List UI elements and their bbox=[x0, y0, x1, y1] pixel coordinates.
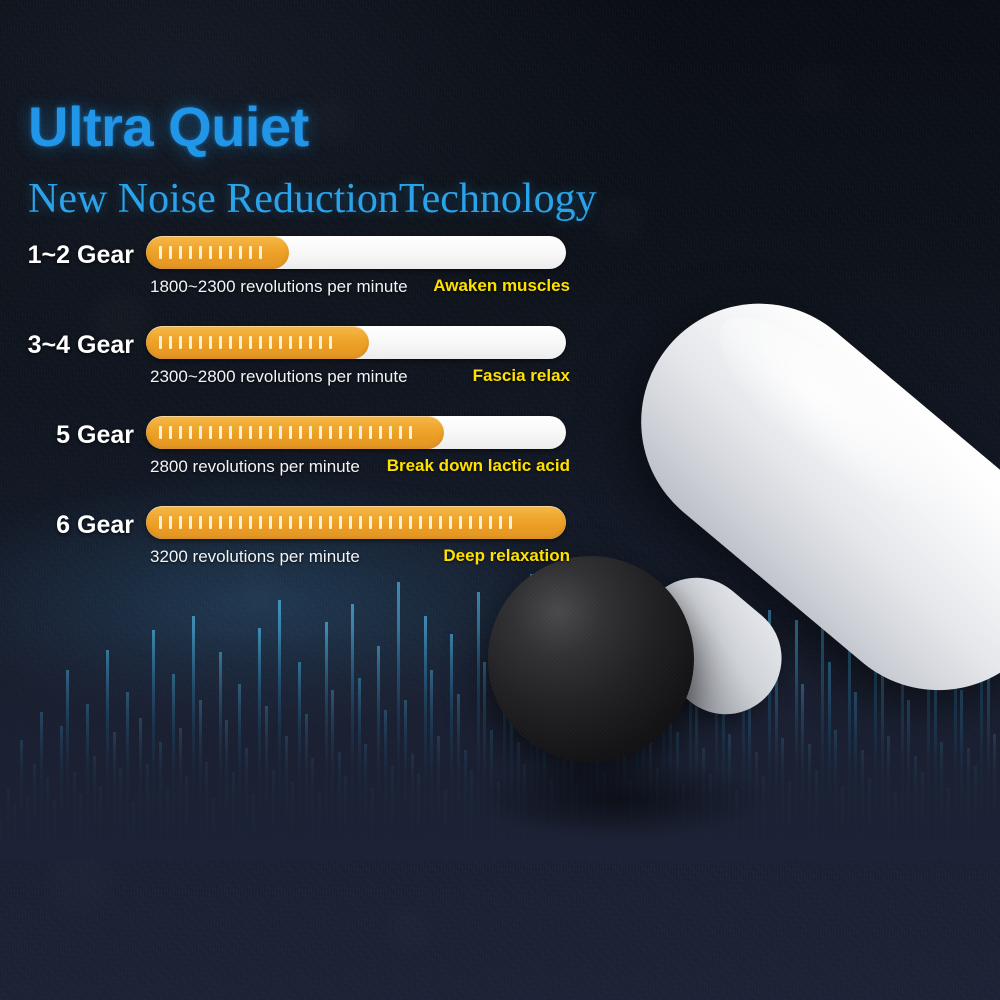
gear-progress-track[interactable] bbox=[146, 236, 566, 269]
gear-progress-track[interactable] bbox=[146, 326, 566, 359]
gear-benefit-label: Deep relaxation bbox=[443, 546, 570, 566]
gear-tick-icon bbox=[499, 516, 502, 529]
gear-tick-icon bbox=[429, 516, 432, 529]
gear-tick-icon bbox=[389, 516, 392, 529]
gear-tick-icon bbox=[309, 516, 312, 529]
gear-tick-icon bbox=[509, 516, 512, 529]
gear-tick-icon bbox=[209, 426, 212, 439]
gear-tick-icon bbox=[309, 336, 312, 349]
gear-tick-icon bbox=[389, 426, 392, 439]
gear-tick-group bbox=[146, 336, 332, 349]
page-title: Ultra Quiet bbox=[28, 94, 309, 159]
gear-tick-icon bbox=[229, 426, 232, 439]
gear-tick-icon bbox=[379, 516, 382, 529]
gear-tick-icon bbox=[419, 516, 422, 529]
gear-tick-icon bbox=[439, 516, 442, 529]
gear-label: 3~4 Gear bbox=[0, 331, 134, 360]
gear-tick-icon bbox=[279, 516, 282, 529]
gear-tick-icon bbox=[189, 246, 192, 259]
gear-tick-icon bbox=[299, 426, 302, 439]
gear-tick-group bbox=[146, 246, 262, 259]
gear-tick-icon bbox=[269, 516, 272, 529]
gear-rpm-caption: 2800 revolutions per minute bbox=[150, 457, 360, 477]
gear-tick-icon bbox=[179, 426, 182, 439]
gear-tick-icon bbox=[239, 336, 242, 349]
gear-tick-icon bbox=[359, 426, 362, 439]
gear-tick-icon bbox=[199, 516, 202, 529]
gear-progress-track[interactable] bbox=[146, 416, 566, 449]
gear-progress-fill bbox=[146, 326, 369, 359]
gear-rpm-caption: 1800~2300 revolutions per minute bbox=[150, 277, 408, 297]
gear-tick-icon bbox=[249, 336, 252, 349]
gear-tick-icon bbox=[349, 426, 352, 439]
gear-tick-icon bbox=[369, 516, 372, 529]
gear-tick-icon bbox=[489, 516, 492, 529]
gear-tick-icon bbox=[399, 426, 402, 439]
gear-tick-icon bbox=[159, 426, 162, 439]
gear-tick-icon bbox=[159, 516, 162, 529]
gear-tick-icon bbox=[219, 426, 222, 439]
gear-tick-icon bbox=[259, 426, 262, 439]
gear-tick-icon bbox=[329, 516, 332, 529]
gear-row: 3~4 Gear2300~2800 revolutions per minute… bbox=[0, 326, 600, 416]
gear-tick-icon bbox=[289, 426, 292, 439]
gear-rpm-caption: 2300~2800 revolutions per minute bbox=[150, 367, 408, 387]
gear-row: 6 Gear3200 revolutions per minuteDeep re… bbox=[0, 506, 600, 596]
gear-tick-icon bbox=[289, 336, 292, 349]
gear-rpm-caption: 3200 revolutions per minute bbox=[150, 547, 360, 567]
gear-tick-icon bbox=[229, 336, 232, 349]
product-infographic: Ultra Quiet New Noise ReductionTechnolog… bbox=[0, 0, 1000, 1000]
gear-tick-icon bbox=[329, 336, 332, 349]
gear-tick-icon bbox=[339, 426, 342, 439]
gear-tick-icon bbox=[409, 426, 412, 439]
gear-tick-icon bbox=[239, 516, 242, 529]
gear-tick-icon bbox=[469, 516, 472, 529]
gear-progress-track[interactable] bbox=[146, 506, 566, 539]
page-subtitle: New Noise ReductionTechnology bbox=[28, 175, 597, 223]
gear-tick-icon bbox=[239, 426, 242, 439]
gear-tick-icon bbox=[159, 336, 162, 349]
gear-tick-icon bbox=[279, 426, 282, 439]
gear-tick-icon bbox=[249, 516, 252, 529]
gear-row: 1~2 Gear1800~2300 revolutions per minute… bbox=[0, 236, 600, 326]
gear-label: 1~2 Gear bbox=[0, 241, 134, 270]
gear-tick-icon bbox=[239, 246, 242, 259]
gear-tick-icon bbox=[169, 426, 172, 439]
gear-tick-icon bbox=[339, 516, 342, 529]
gear-tick-icon bbox=[159, 246, 162, 259]
gear-tick-icon bbox=[219, 246, 222, 259]
gear-tick-icon bbox=[249, 426, 252, 439]
gear-tick-icon bbox=[459, 516, 462, 529]
gear-tick-icon bbox=[309, 426, 312, 439]
gear-tick-icon bbox=[179, 516, 182, 529]
gear-tick-icon bbox=[479, 516, 482, 529]
gear-tick-icon bbox=[399, 516, 402, 529]
gear-tick-icon bbox=[449, 516, 452, 529]
gear-tick-icon bbox=[369, 426, 372, 439]
gear-tick-icon bbox=[189, 516, 192, 529]
waveform-fade bbox=[0, 630, 1000, 860]
gear-progress-fill bbox=[146, 236, 289, 269]
gear-tick-icon bbox=[219, 336, 222, 349]
gear-label: 6 Gear bbox=[0, 511, 134, 540]
gear-row: 5 Gear2800 revolutions per minuteBreak d… bbox=[0, 416, 600, 506]
gear-progress-fill bbox=[146, 506, 566, 539]
gear-tick-icon bbox=[259, 516, 262, 529]
gear-benefit-label: Break down lactic acid bbox=[387, 456, 570, 476]
gear-tick-group bbox=[146, 426, 412, 439]
gear-tick-icon bbox=[299, 516, 302, 529]
gear-tick-icon bbox=[199, 426, 202, 439]
gear-tick-icon bbox=[269, 426, 272, 439]
gear-tick-icon bbox=[299, 336, 302, 349]
gear-tick-icon bbox=[259, 336, 262, 349]
gear-tick-icon bbox=[199, 336, 202, 349]
gear-tick-icon bbox=[269, 336, 272, 349]
gear-tick-icon bbox=[199, 246, 202, 259]
gear-tick-icon bbox=[169, 336, 172, 349]
gear-tick-icon bbox=[229, 516, 232, 529]
gear-tick-icon bbox=[259, 246, 262, 259]
gear-progress-fill bbox=[146, 416, 444, 449]
gear-tick-group bbox=[146, 516, 512, 529]
gear-tick-icon bbox=[209, 516, 212, 529]
gear-speed-list: 1~2 Gear1800~2300 revolutions per minute… bbox=[0, 236, 600, 596]
gear-tick-icon bbox=[189, 426, 192, 439]
gear-tick-icon bbox=[379, 426, 382, 439]
gear-tick-icon bbox=[189, 336, 192, 349]
gear-tick-icon bbox=[209, 336, 212, 349]
gear-tick-icon bbox=[409, 516, 412, 529]
gear-tick-icon bbox=[179, 246, 182, 259]
gear-benefit-label: Awaken muscles bbox=[433, 276, 570, 296]
gear-tick-icon bbox=[289, 516, 292, 529]
gear-tick-icon bbox=[249, 246, 252, 259]
gear-tick-icon bbox=[329, 426, 332, 439]
gear-tick-icon bbox=[359, 516, 362, 529]
gear-tick-icon bbox=[319, 516, 322, 529]
gear-tick-icon bbox=[169, 516, 172, 529]
gear-benefit-label: Fascia relax bbox=[473, 366, 570, 386]
gear-label: 5 Gear bbox=[0, 421, 134, 450]
gear-tick-icon bbox=[229, 246, 232, 259]
gear-tick-icon bbox=[279, 336, 282, 349]
gear-tick-icon bbox=[319, 336, 322, 349]
gear-tick-icon bbox=[169, 246, 172, 259]
gear-tick-icon bbox=[179, 336, 182, 349]
gear-tick-icon bbox=[219, 516, 222, 529]
gear-tick-icon bbox=[349, 516, 352, 529]
gear-tick-icon bbox=[209, 246, 212, 259]
gear-tick-icon bbox=[319, 426, 322, 439]
